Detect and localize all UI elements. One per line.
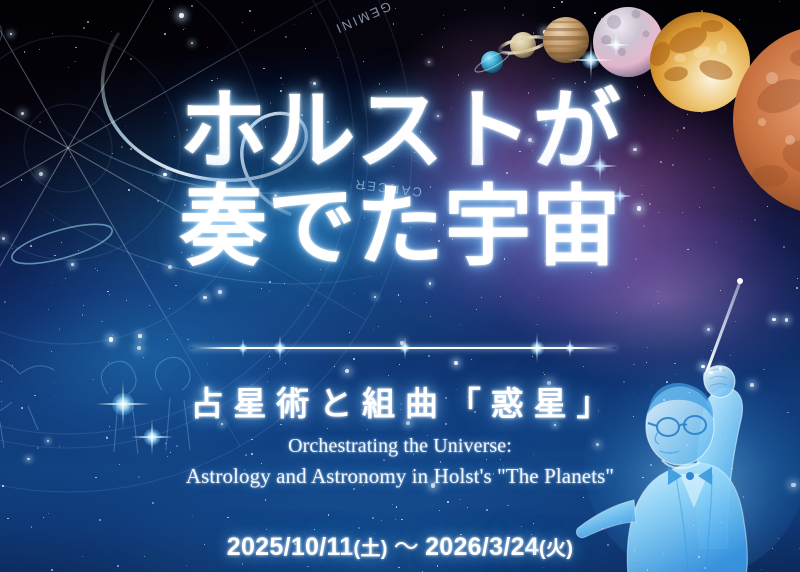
english-subtitle: Orchestrating the Universe: Astrology an… bbox=[0, 432, 800, 491]
title-divider-rule bbox=[190, 347, 616, 349]
main-title: ホルストが 奏でた宇宙 bbox=[0, 88, 800, 274]
english-subtitle-line1: Orchestrating the Universe: bbox=[0, 432, 800, 461]
main-title-line1: ホルストが bbox=[0, 88, 800, 178]
japanese-subtitle: 占星術と組曲「惑星」 bbox=[0, 377, 800, 425]
main-title-line2: 奏でた宇宙 bbox=[0, 184, 800, 274]
date-end-dayofweek: (火) bbox=[539, 538, 573, 560]
date-start-dayofweek: (土) bbox=[354, 538, 388, 560]
date-end: 2026/3/24 bbox=[425, 533, 539, 561]
english-subtitle-line2: Astrology and Astronomy in Holst's "The … bbox=[0, 461, 800, 491]
poster-text: ホルストが 奏でた宇宙 占星術と組曲「惑星」 Orchestrating the… bbox=[0, 0, 800, 572]
date-range: 2025/10/11(土)〜2026/3/24(火) bbox=[0, 527, 800, 563]
date-start: 2025/10/11 bbox=[227, 533, 354, 561]
date-separator: 〜 bbox=[388, 534, 425, 561]
poster-canvas: AQUARIUSPISCESARIESTAURUSGEMINICANCERCAP… bbox=[0, 0, 800, 572]
